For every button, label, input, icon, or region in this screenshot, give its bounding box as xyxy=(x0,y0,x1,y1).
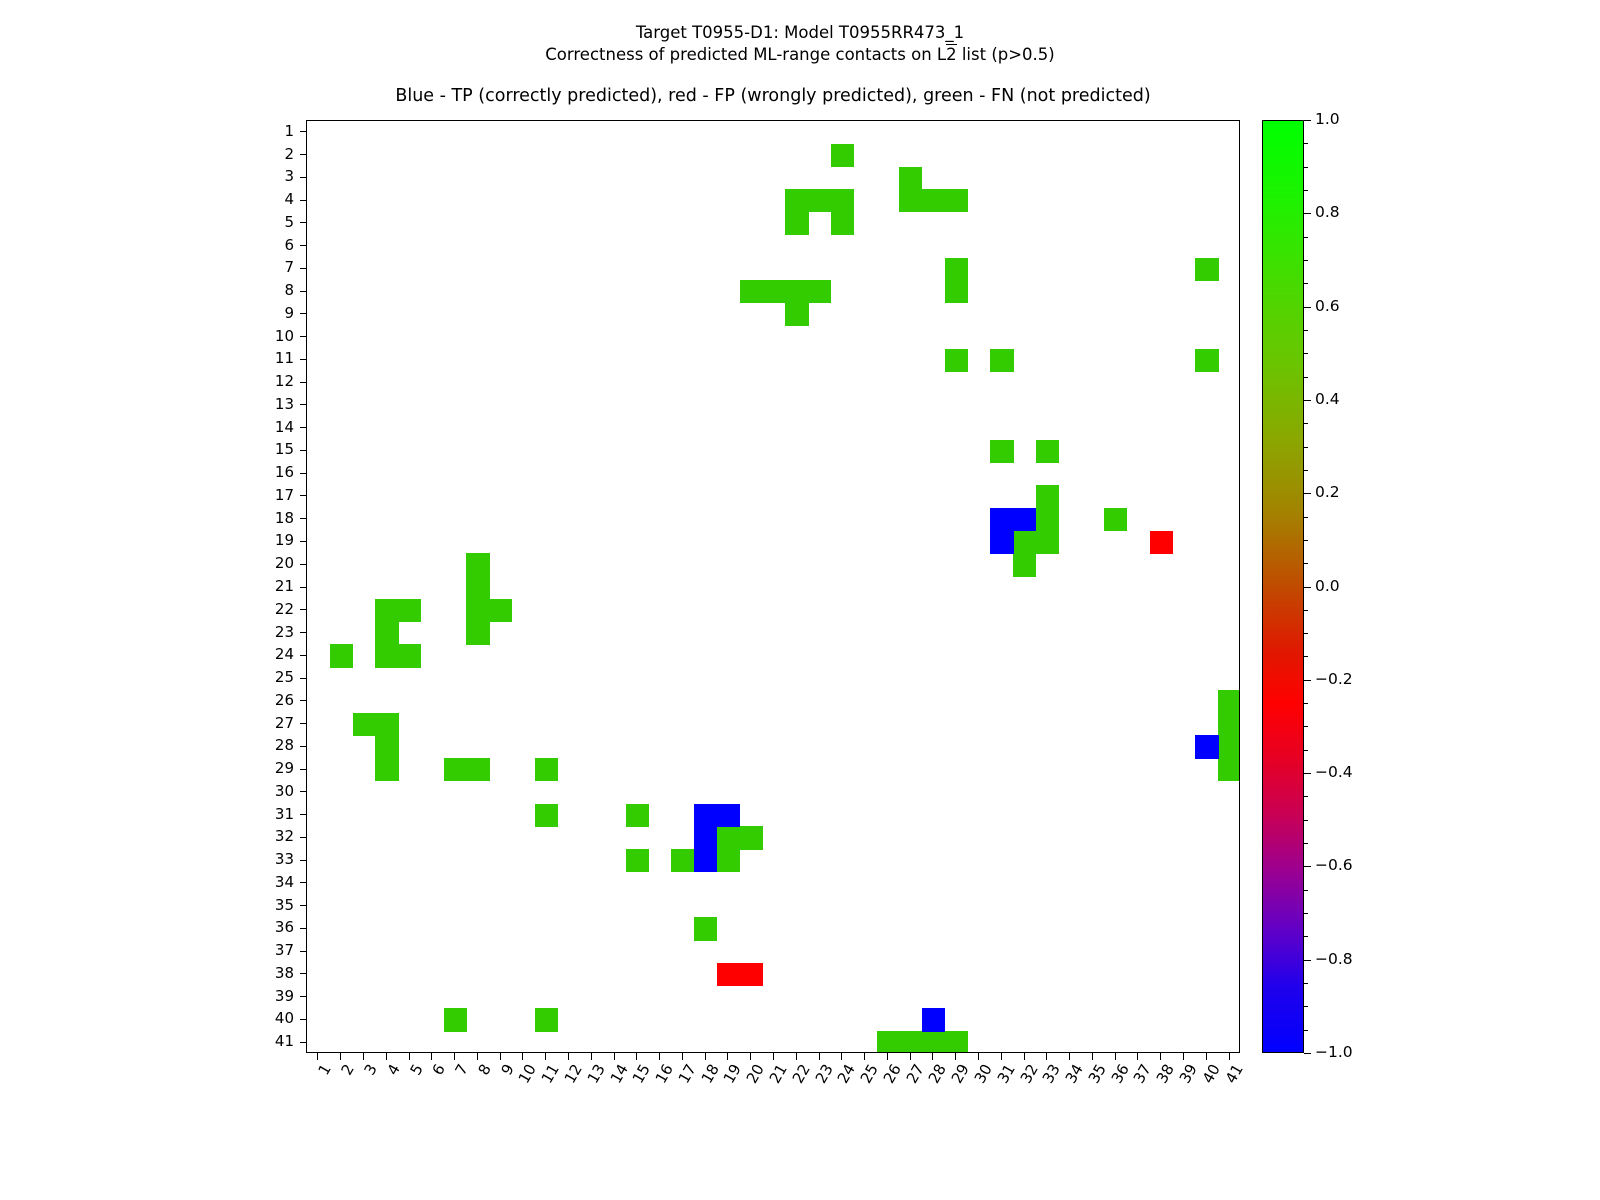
colorbar-minor-tick xyxy=(1304,353,1308,354)
x-tick-6 xyxy=(431,1053,432,1060)
y-tick-1 xyxy=(300,131,307,132)
contact-cell-fn xyxy=(375,599,398,622)
colorbar-minor-tick xyxy=(1304,796,1308,797)
x-tick-23 xyxy=(819,1053,820,1060)
colorbar-minor-tick xyxy=(1304,423,1308,424)
y-tick-label-18: 18 xyxy=(248,511,294,526)
colorbar-tick-0.8 xyxy=(1304,213,1311,214)
y-tick-27 xyxy=(300,723,307,724)
y-tick-4 xyxy=(300,200,307,201)
y-tick-label-32: 32 xyxy=(248,829,294,844)
y-tick-20 xyxy=(300,564,307,565)
x-tick-38 xyxy=(1160,1053,1161,1060)
y-tick-label-27: 27 xyxy=(248,716,294,731)
contact-cell-fn xyxy=(831,144,854,167)
colorbar-tick-0.0 xyxy=(1304,587,1311,588)
y-tick-label-40: 40 xyxy=(248,1011,294,1026)
x-tick-37 xyxy=(1137,1053,1138,1060)
contact-cell-fn xyxy=(1195,349,1218,372)
contact-cell-fn xyxy=(1104,508,1127,531)
colorbar-minor-tick xyxy=(1304,540,1308,541)
x-tick-9 xyxy=(500,1053,501,1060)
y-tick-label-15: 15 xyxy=(248,442,294,457)
y-tick-33 xyxy=(300,860,307,861)
l2-fraction-denominator: 2 xyxy=(946,44,957,66)
y-tick-label-4: 4 xyxy=(248,192,294,207)
y-tick-16 xyxy=(300,473,307,474)
y-tick-label-14: 14 xyxy=(248,420,294,435)
contact-cell-fn xyxy=(375,622,398,645)
contact-cell-tp xyxy=(922,1008,945,1031)
y-tick-38 xyxy=(300,973,307,974)
y-tick-5 xyxy=(300,222,307,223)
colorbar-tick-1.0 xyxy=(1304,120,1311,121)
contact-cell-fn xyxy=(535,758,558,781)
y-tick-18 xyxy=(300,518,307,519)
colorbar-minor-tick xyxy=(1304,610,1308,611)
colorbar-tick-label-0.8: 0.8 xyxy=(1315,205,1340,220)
y-tick-37 xyxy=(300,951,307,952)
x-tick-11 xyxy=(545,1053,546,1060)
contact-cell-fn xyxy=(671,849,694,872)
x-tick-10 xyxy=(522,1053,523,1060)
contact-cell-fn xyxy=(535,804,558,827)
contact-cell-fn xyxy=(717,826,740,849)
x-tick-25 xyxy=(864,1053,865,1060)
x-tick-33 xyxy=(1046,1053,1047,1060)
y-tick-23 xyxy=(300,632,307,633)
contact-cell-fn xyxy=(945,189,968,212)
contact-cell-fn xyxy=(990,349,1013,372)
x-tick-12 xyxy=(568,1053,569,1060)
y-tick-label-17: 17 xyxy=(248,488,294,503)
y-tick-25 xyxy=(300,678,307,679)
y-tick-2 xyxy=(300,154,307,155)
colorbar-tick-label--0.4: −0.4 xyxy=(1315,765,1353,780)
contact-cell-fn xyxy=(945,280,968,303)
colorbar-minor-tick xyxy=(1304,517,1308,518)
y-tick-3 xyxy=(300,177,307,178)
contact-cell-fp xyxy=(717,963,740,986)
colorbar-tick-0.6 xyxy=(1304,307,1311,308)
x-tick-5 xyxy=(409,1053,410,1060)
y-tick-34 xyxy=(300,882,307,883)
y-tick-label-30: 30 xyxy=(248,784,294,799)
y-tick-label-10: 10 xyxy=(248,329,294,344)
contact-cell-fn xyxy=(990,440,1013,463)
contact-cell-fn xyxy=(535,1008,558,1031)
y-tick-label-26: 26 xyxy=(248,693,294,708)
contact-cell-fn xyxy=(1013,553,1036,576)
contact-cell-tp xyxy=(694,849,717,872)
y-tick-label-8: 8 xyxy=(248,283,294,298)
colorbar-minor-tick xyxy=(1304,283,1308,284)
y-tick-31 xyxy=(300,814,307,815)
x-tick-15 xyxy=(636,1053,637,1060)
x-tick-28 xyxy=(932,1053,933,1060)
contact-cell-tp xyxy=(694,826,717,849)
x-tick-8 xyxy=(477,1053,478,1060)
colorbar-minor-tick xyxy=(1304,563,1308,564)
contact-cell-tp xyxy=(990,508,1013,531)
y-tick-12 xyxy=(300,382,307,383)
x-tick-18 xyxy=(705,1053,706,1060)
contact-cell-fn xyxy=(375,735,398,758)
contact-cell-fn xyxy=(922,1031,945,1053)
y-tick-41 xyxy=(300,1042,307,1043)
contact-cell-fn xyxy=(899,167,922,190)
colorbar-minor-tick xyxy=(1304,936,1308,937)
y-tick-label-6: 6 xyxy=(248,238,294,253)
contact-cell-tp xyxy=(1195,735,1218,758)
contact-cell-fn xyxy=(899,189,922,212)
x-tick-20 xyxy=(750,1053,751,1060)
contact-cell-fn xyxy=(398,644,421,667)
contact-cell-fn xyxy=(808,189,831,212)
x-tick-13 xyxy=(591,1053,592,1060)
contact-cell-fn xyxy=(945,258,968,281)
y-tick-6 xyxy=(300,245,307,246)
contact-cell-fn xyxy=(466,576,489,599)
colorbar-minor-tick xyxy=(1304,890,1308,891)
contact-cell-fn xyxy=(1195,258,1218,281)
contact-cell-fn xyxy=(945,1031,968,1053)
y-tick-label-28: 28 xyxy=(248,738,294,753)
y-tick-40 xyxy=(300,1019,307,1020)
y-tick-label-21: 21 xyxy=(248,579,294,594)
axes-title: Blue - TP (correctly predicted), red - F… xyxy=(306,86,1240,106)
l2-denominator-text: 2 xyxy=(946,45,957,64)
x-tick-17 xyxy=(682,1053,683,1060)
y-tick-label-11: 11 xyxy=(248,351,294,366)
x-tick-39 xyxy=(1183,1053,1184,1060)
figure-title-block: Target T0955-D1: Model T0955RR473_1 Corr… xyxy=(0,22,1600,66)
y-tick-label-2: 2 xyxy=(248,147,294,162)
colorbar-minor-tick xyxy=(1304,143,1308,144)
contact-cell-fn xyxy=(877,1031,900,1053)
y-tick-label-12: 12 xyxy=(248,374,294,389)
x-tick-3 xyxy=(363,1053,364,1060)
x-tick-19 xyxy=(727,1053,728,1060)
contact-cell-fn xyxy=(1013,531,1036,554)
y-tick-label-35: 35 xyxy=(248,898,294,913)
contact-cell-fn xyxy=(375,758,398,781)
y-tick-36 xyxy=(300,928,307,929)
contact-cell-fn xyxy=(785,189,808,212)
contact-cell-fn xyxy=(740,826,763,849)
y-tick-8 xyxy=(300,291,307,292)
contact-cell-fn xyxy=(899,1031,922,1053)
y-tick-24 xyxy=(300,655,307,656)
colorbar-minor-tick xyxy=(1304,633,1308,634)
colorbar-minor-tick xyxy=(1304,330,1308,331)
y-tick-label-13: 13 xyxy=(248,397,294,412)
colorbar-minor-tick xyxy=(1304,843,1308,844)
contact-cell-fn xyxy=(626,849,649,872)
contact-cell-fn xyxy=(466,599,489,622)
y-tick-label-38: 38 xyxy=(248,966,294,981)
y-tick-label-1: 1 xyxy=(248,124,294,139)
colorbar-minor-tick xyxy=(1304,913,1308,914)
colorbar-minor-tick xyxy=(1304,167,1308,168)
overbar-rule xyxy=(946,44,957,45)
y-tick-label-9: 9 xyxy=(248,306,294,321)
colorbar-tick--0.6 xyxy=(1304,866,1311,867)
y-tick-label-41: 41 xyxy=(248,1034,294,1049)
colorbar-minor-tick xyxy=(1304,1030,1308,1031)
y-tick-21 xyxy=(300,587,307,588)
colorbar-tick-label--0.8: −0.8 xyxy=(1315,952,1353,967)
contact-cell-fn xyxy=(466,553,489,576)
contact-cell-fn xyxy=(444,758,467,781)
suptitle-line-2-suffix: list (p>0.5) xyxy=(957,45,1055,64)
x-tick-24 xyxy=(841,1053,842,1060)
y-tick-label-3: 3 xyxy=(248,169,294,184)
colorbar-tick-label-0.2: 0.2 xyxy=(1315,485,1340,500)
colorbar-tick-label--0.2: −0.2 xyxy=(1315,672,1353,687)
contact-cell-tp xyxy=(990,531,1013,554)
contact-cell-fn xyxy=(1218,690,1240,713)
colorbar-tick--0.8 xyxy=(1304,960,1311,961)
contact-cell-fn xyxy=(785,303,808,326)
x-tick-29 xyxy=(955,1053,956,1060)
contact-cell-tp xyxy=(1013,508,1036,531)
contact-cell-fn xyxy=(763,280,786,303)
contact-cell-fn xyxy=(375,644,398,667)
y-tick-7 xyxy=(300,268,307,269)
y-tick-29 xyxy=(300,769,307,770)
contact-cell-tp xyxy=(694,804,717,827)
x-tick-21 xyxy=(773,1053,774,1060)
y-tick-30 xyxy=(300,791,307,792)
contact-cell-fn xyxy=(466,758,489,781)
x-tick-36 xyxy=(1115,1053,1116,1060)
contact-cell-fn xyxy=(444,1008,467,1031)
contact-cell-fn xyxy=(626,804,649,827)
x-tick-14 xyxy=(614,1053,615,1060)
colorbar-minor-tick xyxy=(1304,190,1308,191)
x-tick-7 xyxy=(454,1053,455,1060)
colorbar-tick--0.2 xyxy=(1304,680,1311,681)
x-tick-32 xyxy=(1024,1053,1025,1060)
contact-cell-fn xyxy=(1036,508,1059,531)
y-tick-label-33: 33 xyxy=(248,852,294,867)
x-tick-34 xyxy=(1069,1053,1070,1060)
colorbar-tick-label-1.0: 1.0 xyxy=(1315,112,1340,127)
colorbar-tick-label--1.0: −1.0 xyxy=(1315,1045,1353,1060)
x-tick-41 xyxy=(1229,1053,1230,1060)
y-tick-label-39: 39 xyxy=(248,989,294,1004)
y-tick-label-36: 36 xyxy=(248,920,294,935)
colorbar-minor-tick xyxy=(1304,1006,1308,1007)
colorbar-tick--0.4 xyxy=(1304,773,1311,774)
suptitle-line-2: Correctness of predicted ML-range contac… xyxy=(0,44,1600,66)
contact-cell-fn xyxy=(831,189,854,212)
colorbar-tick--1.0 xyxy=(1304,1053,1311,1054)
x-tick-35 xyxy=(1092,1053,1093,1060)
y-tick-13 xyxy=(300,404,307,405)
colorbar-minor-tick xyxy=(1304,726,1308,727)
y-tick-label-29: 29 xyxy=(248,761,294,776)
contact-cell-fn xyxy=(1218,735,1240,758)
contact-cell-fn xyxy=(1036,440,1059,463)
colorbar-tick-label-0.6: 0.6 xyxy=(1315,299,1340,314)
y-tick-26 xyxy=(300,700,307,701)
contact-cell-fn xyxy=(694,917,717,940)
y-tick-label-16: 16 xyxy=(248,465,294,480)
y-tick-label-25: 25 xyxy=(248,670,294,685)
y-tick-label-19: 19 xyxy=(248,533,294,548)
contact-cell-fn xyxy=(831,212,854,235)
x-tick-16 xyxy=(659,1053,660,1060)
suptitle-line-1: Target T0955-D1: Model T0955RR473_1 xyxy=(0,22,1600,44)
contact-cell-fn xyxy=(1218,758,1240,781)
y-tick-label-34: 34 xyxy=(248,875,294,890)
y-tick-label-7: 7 xyxy=(248,260,294,275)
contact-cell-fn xyxy=(1218,713,1240,736)
colorbar-minor-tick xyxy=(1304,260,1308,261)
y-tick-label-37: 37 xyxy=(248,943,294,958)
contact-cell-fn xyxy=(398,599,421,622)
colorbar-minor-tick xyxy=(1304,237,1308,238)
contact-cell-fp xyxy=(740,963,763,986)
contact-cell-fn xyxy=(1036,531,1059,554)
x-tick-26 xyxy=(887,1053,888,1060)
contact-cell-fn xyxy=(785,280,808,303)
y-tick-label-22: 22 xyxy=(248,602,294,617)
colorbar-tick-0.2 xyxy=(1304,493,1311,494)
y-tick-28 xyxy=(300,746,307,747)
contact-cell-fn xyxy=(330,644,353,667)
colorbar-tick-label-0.4: 0.4 xyxy=(1315,392,1340,407)
y-tick-35 xyxy=(300,905,307,906)
x-tick-22 xyxy=(796,1053,797,1060)
colorbar-minor-tick xyxy=(1304,750,1308,751)
y-tick-label-31: 31 xyxy=(248,807,294,822)
suptitle-line-2-prefix: Correctness of predicted ML-range contac… xyxy=(545,45,946,64)
y-tick-15 xyxy=(300,450,307,451)
y-tick-label-24: 24 xyxy=(248,647,294,662)
x-tick-2 xyxy=(340,1053,341,1060)
y-tick-39 xyxy=(300,996,307,997)
y-tick-19 xyxy=(300,541,307,542)
colorbar-minor-tick xyxy=(1304,983,1308,984)
colorbar-minor-tick xyxy=(1304,703,1308,704)
x-tick-40 xyxy=(1206,1053,1207,1060)
y-tick-9 xyxy=(300,313,307,314)
y-tick-label-23: 23 xyxy=(248,625,294,640)
contact-cell-fn xyxy=(945,349,968,372)
colorbar-gradient xyxy=(1263,121,1303,1052)
colorbar-tick-0.4 xyxy=(1304,400,1311,401)
contact-cell-tp xyxy=(717,804,740,827)
colorbar-minor-tick xyxy=(1304,820,1308,821)
colorbar-tick-label-0.0: 0.0 xyxy=(1315,579,1340,594)
contact-cell-fn xyxy=(740,280,763,303)
contact-cell-fp xyxy=(1150,531,1173,554)
y-tick-17 xyxy=(300,495,307,496)
y-tick-14 xyxy=(300,427,307,428)
contact-cell-fn xyxy=(353,713,376,736)
contact-cell-fn xyxy=(922,189,945,212)
colorbar-tick-label--0.6: −0.6 xyxy=(1315,858,1353,873)
colorbar-minor-tick xyxy=(1304,377,1308,378)
contact-cell-fn xyxy=(489,599,512,622)
y-tick-10 xyxy=(300,336,307,337)
y-tick-label-20: 20 xyxy=(248,556,294,571)
colorbar xyxy=(1262,120,1304,1053)
y-tick-32 xyxy=(300,837,307,838)
x-tick-1 xyxy=(317,1053,318,1060)
x-tick-30 xyxy=(978,1053,979,1060)
colorbar-minor-tick xyxy=(1304,656,1308,657)
contact-cell-fn xyxy=(375,713,398,736)
contact-map-plot xyxy=(306,120,1240,1053)
x-tick-4 xyxy=(386,1053,387,1060)
y-tick-22 xyxy=(300,609,307,610)
y-tick-11 xyxy=(300,359,307,360)
contact-cell-fn xyxy=(1036,485,1059,508)
contact-cell-fn xyxy=(717,849,740,872)
colorbar-minor-tick xyxy=(1304,470,1308,471)
contact-cell-fn xyxy=(808,280,831,303)
x-tick-31 xyxy=(1001,1053,1002,1060)
contact-cell-fn xyxy=(466,622,489,645)
colorbar-minor-tick xyxy=(1304,447,1308,448)
x-tick-27 xyxy=(910,1053,911,1060)
contact-cell-fn xyxy=(785,212,808,235)
y-tick-label-5: 5 xyxy=(248,215,294,230)
